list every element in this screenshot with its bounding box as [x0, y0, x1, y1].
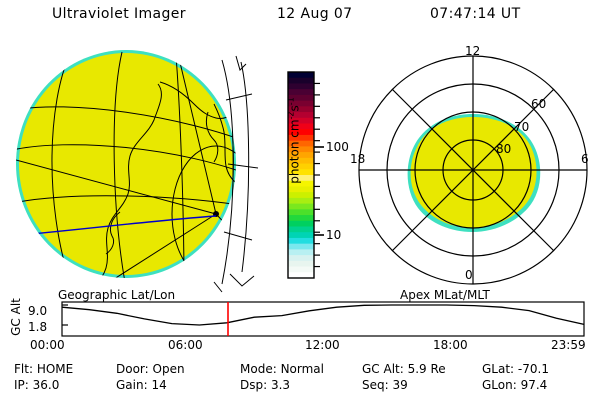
colorbar-unit-exp2: -1 — [287, 97, 296, 105]
globe-image — [8, 42, 264, 292]
header-bar: Ultraviolet Imager 12 Aug 07 07:47:14 UT — [0, 6, 600, 28]
status-field: GC Alt: 5.9 Re — [362, 362, 446, 376]
status-field-label: Flt: — [14, 362, 37, 376]
status-field-label: Dsp: — [240, 378, 271, 392]
status-field-value: 36.0 — [33, 378, 60, 392]
colorbar-ticks — [314, 83, 324, 266]
status-field-value: 97.4 — [521, 378, 548, 392]
status-field-label: Seq: — [362, 378, 392, 392]
status-field: GLon: 97.4 — [482, 378, 547, 392]
status-field-value: 3.3 — [271, 378, 290, 392]
polar-mlt-label: 0 — [465, 268, 473, 282]
status-field-value: 5.9 Re — [408, 362, 446, 376]
status-field-label: GLon: — [482, 378, 521, 392]
status-field: Gain: 14 — [116, 378, 167, 392]
colorbar-band — [288, 255, 314, 261]
colorbar-panel: photon cm-2s-1 10010 — [262, 45, 348, 295]
orbit-x-tick-label: 06:00 — [168, 338, 203, 352]
status-field-label: GC Alt: — [362, 362, 408, 376]
colorbar-axis-label: photon cm-2s-1 — [287, 61, 302, 221]
orbit-x-tick-label: 18:00 — [433, 338, 468, 352]
orbit-altitude-panel: Geographic Lat/Lon Apex MLat/MLT GC Alt … — [0, 288, 600, 358]
orbit-x-tick-label: 12:00 — [305, 338, 340, 352]
status-field-label: Door: — [116, 362, 153, 376]
geographic-globe-panel — [8, 42, 264, 292]
status-field-value: 14 — [151, 378, 166, 392]
polar-mlt-label: 18 — [350, 152, 365, 166]
observation-date: 12 Aug 07 — [277, 6, 352, 22]
status-field: Door: Open — [116, 362, 185, 376]
status-field-value: Open — [153, 362, 185, 376]
status-field: IP: 36.0 — [14, 378, 59, 392]
colorbar-tick-label: 10 — [326, 228, 341, 242]
status-field-label: Gain: — [116, 378, 151, 392]
colorbar-unit-main: photon cm — [288, 119, 302, 183]
status-field-label: Mode: — [240, 362, 281, 376]
status-field: Flt: HOME — [14, 362, 73, 376]
status-field-value: Normal — [281, 362, 324, 376]
status-field: Seq: 39 — [362, 378, 408, 392]
status-field: Dsp: 3.3 — [240, 378, 290, 392]
status-field-value: 39 — [392, 378, 407, 392]
orbit-x-tick-label: 23:59 — [551, 338, 586, 352]
instrument-title: Ultraviolet Imager — [52, 6, 186, 22]
apex-polar-panel: 126018 607080 — [348, 42, 598, 292]
colorbar-band — [288, 249, 314, 255]
colorbar-band — [288, 244, 314, 250]
colorbar-band — [288, 221, 314, 227]
orbit-altitude-chart — [0, 288, 600, 338]
polar-mlt-label: 12 — [465, 44, 480, 58]
polar-latitude-label: 70 — [514, 120, 529, 134]
polar-latitude-label: 60 — [531, 97, 546, 111]
colorbar-tick-label: 100 — [326, 140, 349, 154]
colorbar-band — [288, 238, 314, 244]
status-footer: Flt: HOMEDoor: OpenMode: NormalGC Alt: 5… — [0, 362, 600, 400]
polar-mlt-label: 6 — [581, 152, 589, 166]
colorbar-band — [288, 267, 314, 273]
observation-time: 07:47:14 UT — [430, 6, 521, 22]
colorbar-unit-exp1: -2 — [287, 111, 296, 119]
status-field: Mode: Normal — [240, 362, 324, 376]
status-field: GLat: -70.1 — [482, 362, 549, 376]
status-field-value: HOME — [37, 362, 73, 376]
colorbar-band — [288, 227, 314, 233]
status-field-label: GLat: — [482, 362, 518, 376]
colorbar-unit-mid: s — [288, 105, 302, 111]
polar-latitude-label: 80 — [496, 142, 511, 156]
orbit-x-tick-label: 00:00 — [30, 338, 65, 352]
uvi-display: Ultraviolet Imager 12 Aug 07 07:47:14 UT — [0, 0, 600, 400]
globe-dayglow-disc — [19, 53, 233, 275]
polar-plot-image — [348, 42, 598, 292]
status-field-value: -70.1 — [518, 362, 549, 376]
colorbar-band — [288, 232, 314, 238]
colorbar-scale — [262, 45, 348, 295]
colorbar-band — [288, 261, 314, 267]
status-field-label: IP: — [14, 378, 33, 392]
